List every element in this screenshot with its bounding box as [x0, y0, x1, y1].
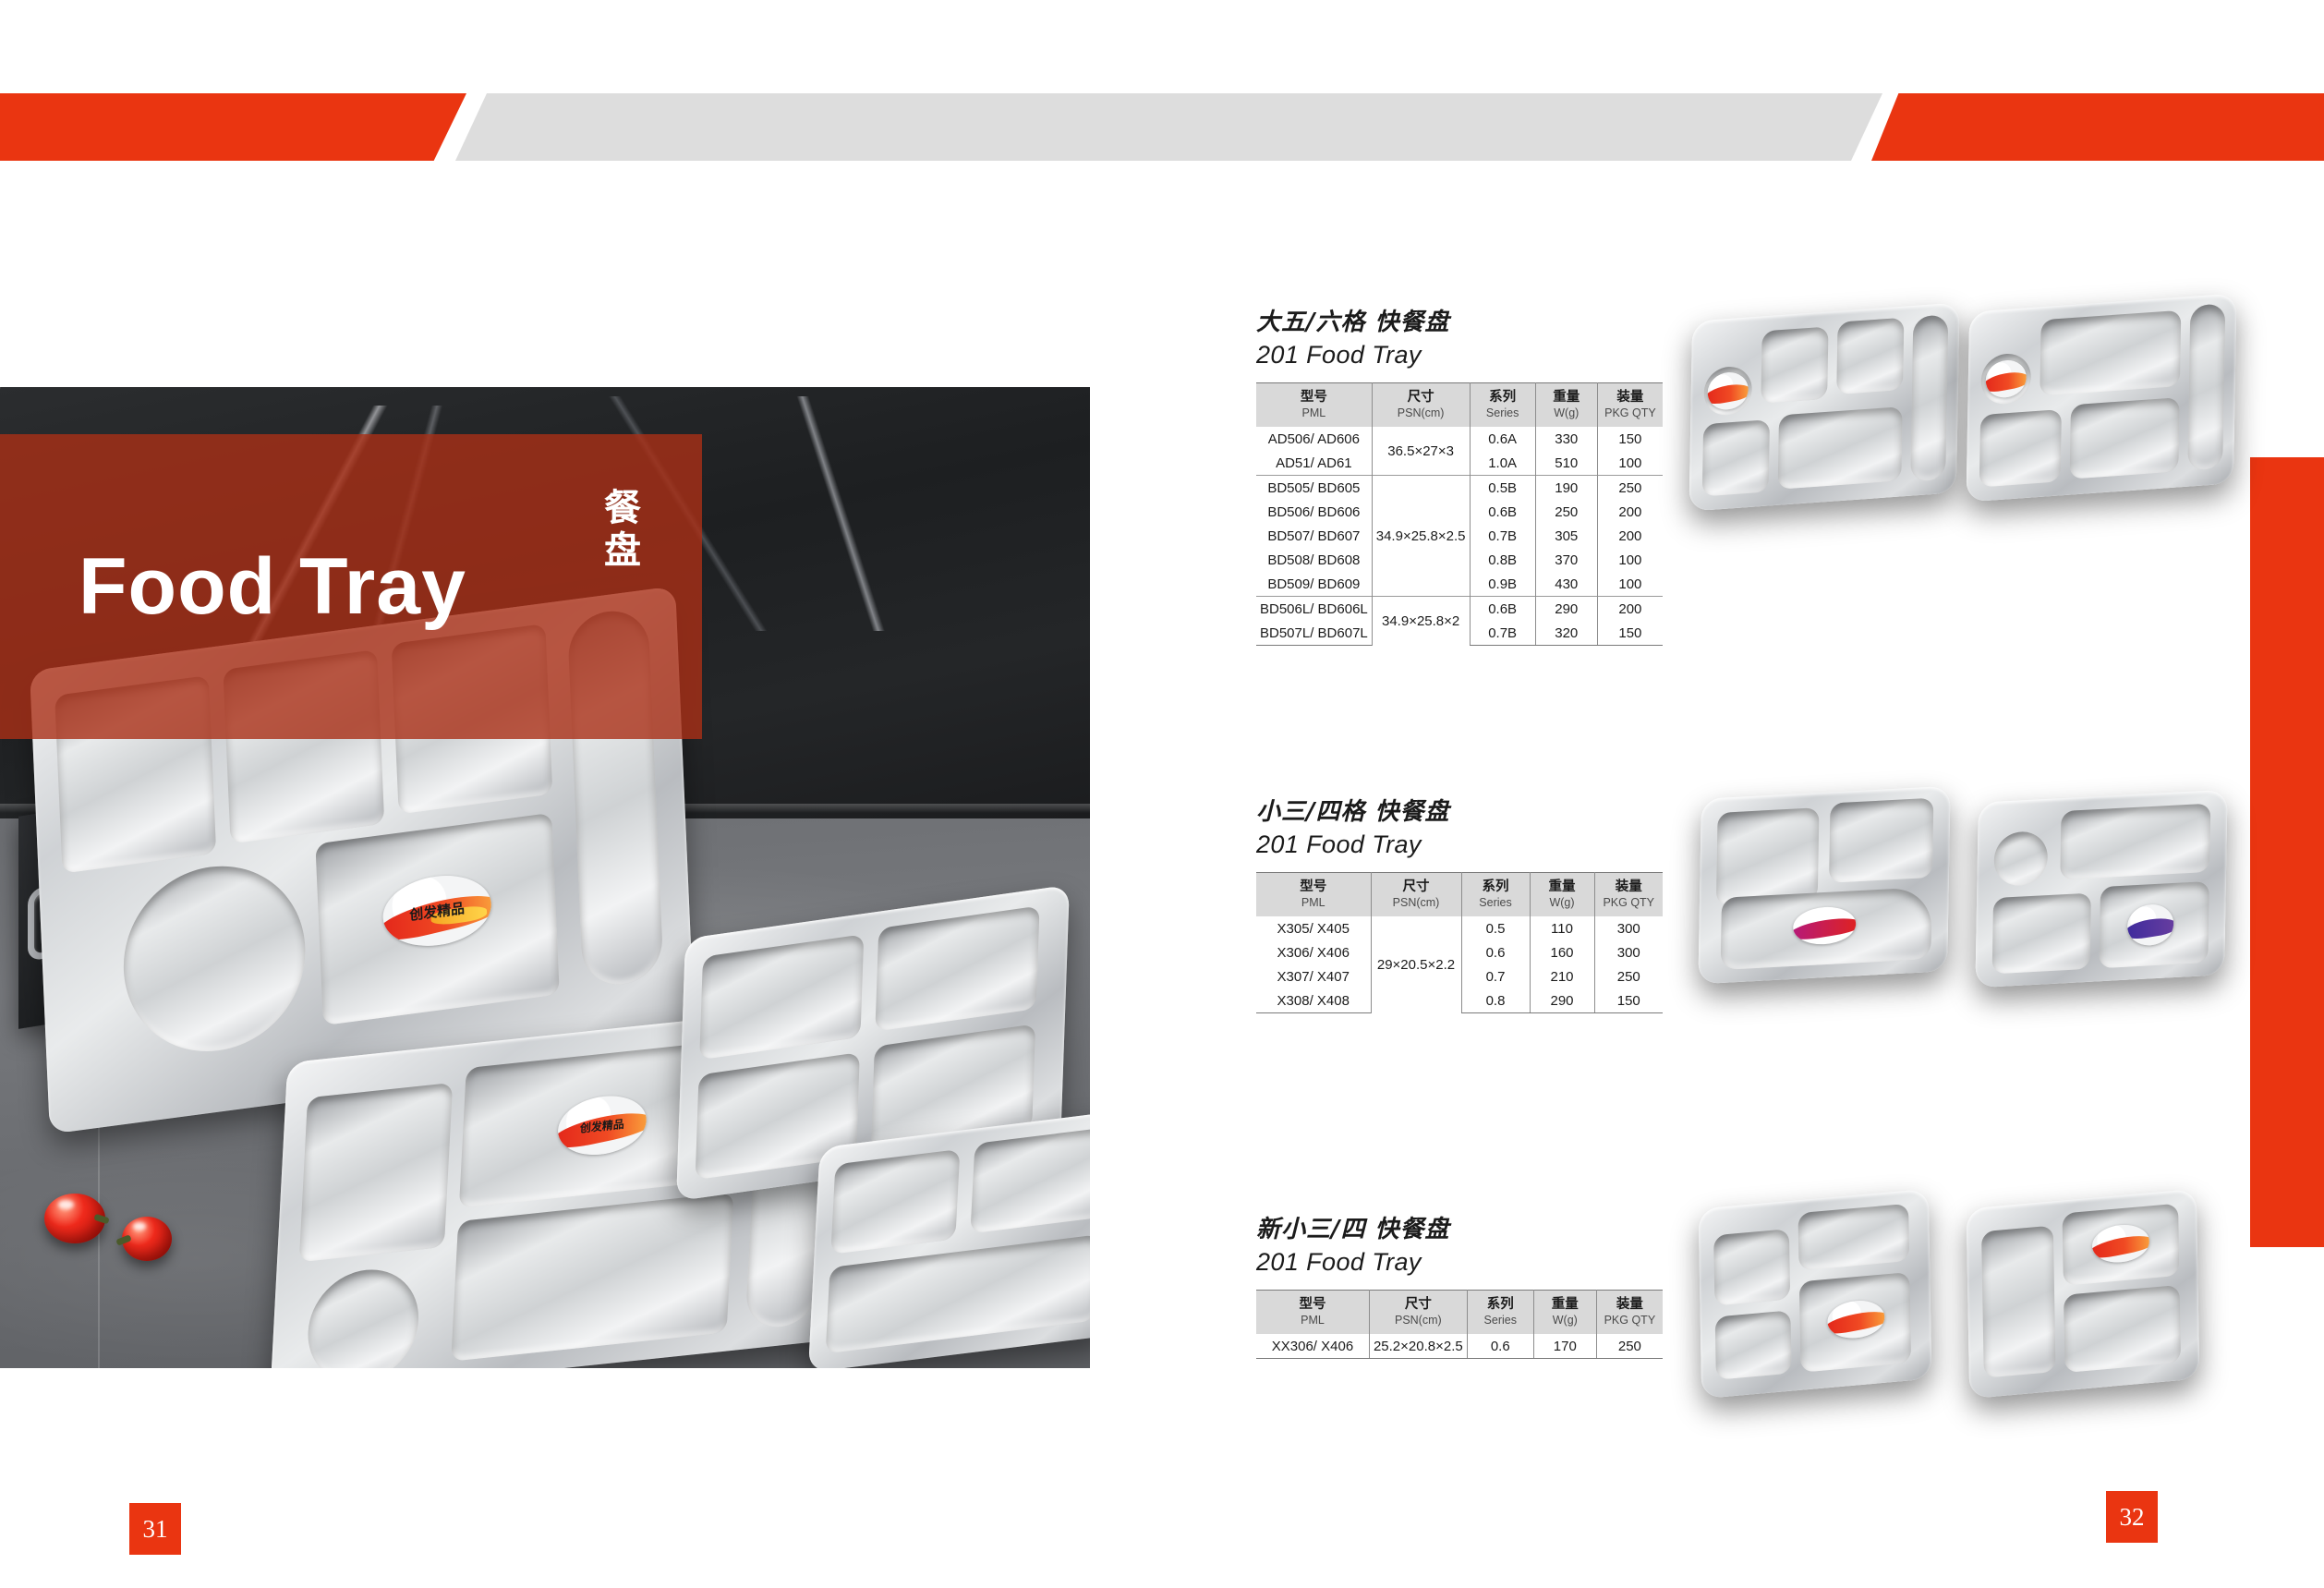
tray-cell-large — [2040, 310, 2181, 396]
cell-weight: 160 — [1530, 940, 1594, 964]
cell-pkg: 100 — [1597, 572, 1663, 597]
product-title-en: 201 Food Tray — [1256, 341, 1663, 370]
brand-sticker — [2127, 903, 2174, 947]
cell-pkg: 300 — [1594, 916, 1663, 940]
tray-cell — [1761, 326, 1828, 403]
spec-table-head: 型号 PML 尺寸 PSN(cm) 系列 Series 重量 W(g) — [1256, 1291, 1663, 1335]
col-header-pkg: 装量 PKG QTY — [1594, 873, 1663, 917]
spec-header-row: 型号 PML 尺寸 PSN(cm) 系列 Series 重量 W(g) — [1256, 383, 1663, 428]
cell-pml: XX306/ X406 — [1256, 1334, 1369, 1359]
product-photo-tray-three-compartment — [1698, 786, 1950, 985]
table-row: X305/ X405 29×20.5×2.2 0.5 110 300 — [1256, 916, 1663, 940]
tomato — [122, 1217, 172, 1261]
cell-pkg: 250 — [1597, 476, 1663, 501]
tray-cell-large — [451, 1193, 733, 1362]
cell-weight: 250 — [1535, 500, 1597, 524]
tray-cell — [875, 905, 1039, 1031]
col-header-pkg: 装量 PKG QTY — [1596, 1291, 1663, 1335]
col-header-weight: 重量 W(g) — [1530, 873, 1594, 917]
tray-cell — [1716, 807, 1820, 905]
tray-cell-round — [305, 1265, 421, 1368]
cell-dimension: 25.2×20.8×2.5 — [1369, 1334, 1467, 1359]
tray-cell-large: 创发精品 — [315, 813, 559, 1025]
cell-pml: BD509/ BD609 — [1256, 572, 1372, 597]
product-title-cn: 新小三/四 快餐盘 — [1256, 1210, 1663, 1244]
col-header-series-cn: 系列 — [1472, 390, 1533, 406]
table-row: AD506/ AD606 36.5×27×3 0.6A 330 150 — [1256, 427, 1663, 451]
table-row: BD505/ BD605 34.9×25.8×2.5 0.5B 190 250 — [1256, 476, 1663, 501]
product-block-new-small-three-four: 新小三/四 快餐盘 201 Food Tray 型号 PML 尺寸 PSN(cm… — [1256, 1210, 2235, 1359]
tray-cell — [1992, 893, 2091, 975]
cell-pml: BD506L/ BD606L — [1256, 597, 1372, 622]
tray-cell-large — [1721, 887, 1932, 970]
col-header-pkg-en: PKG QTY — [1600, 406, 1661, 419]
spec-column: 大五/六格 快餐盘 201 Food Tray 型号 PML 尺寸 PSN(cm… — [1256, 303, 1663, 646]
cell-series: 0.9B — [1470, 572, 1535, 597]
page-number-right: 32 — [2106, 1491, 2158, 1543]
col-header-pml-en: PML — [1258, 406, 1370, 419]
cell-pkg: 200 — [1597, 597, 1663, 622]
product-photo-tray-six-compartment — [1689, 303, 1960, 512]
table-row: BD506L/ BD606L 34.9×25.8×2 0.6B 290 200 — [1256, 597, 1663, 622]
cell-pkg: 150 — [1597, 621, 1663, 646]
cell-weight: 330 — [1535, 427, 1597, 451]
spec-table-head: 型号 PML 尺寸 PSN(cm) 系列 Series 重量 W(g) — [1256, 873, 1663, 917]
cell-pkg: 250 — [1594, 964, 1663, 988]
spec-table-body: AD506/ AD606 36.5×27×3 0.6A 330 150 AD51… — [1256, 427, 1663, 646]
spec-header-row: 型号 PML 尺寸 PSN(cm) 系列 Series 重量 W(g) — [1256, 1291, 1663, 1335]
product-title-en: 201 Food Tray — [1256, 830, 1663, 859]
cell-dimension: 34.9×25.8×2 — [1372, 597, 1470, 646]
cell-pml: X308/ X408 — [1256, 988, 1371, 1013]
col-header-weight: 重量 W(g) — [1533, 1291, 1596, 1335]
tomato — [44, 1194, 105, 1243]
col-header-weight: 重量 W(g) — [1535, 383, 1597, 428]
tray-cell — [299, 1083, 453, 1262]
cell-pml: X307/ X407 — [1256, 964, 1371, 988]
sticker-swoosh-icon — [1793, 915, 1857, 942]
brand-sticker — [1707, 371, 1749, 411]
cell-series: 0.6 — [1467, 1334, 1533, 1359]
table-row: XX306/ X406 25.2×20.8×2.5 0.6 170 250 — [1256, 1334, 1663, 1359]
cell-series: 0.8B — [1470, 548, 1535, 572]
brand-sticker — [2092, 1222, 2149, 1264]
sticker-swoosh-icon — [1707, 382, 1749, 406]
col-header-series-cn: 系列 — [1470, 1297, 1531, 1313]
tray-cell — [1829, 798, 1933, 883]
tray-cell-round — [1703, 365, 1752, 417]
product-photos — [1690, 793, 2235, 1024]
cell-weight: 305 — [1535, 524, 1597, 548]
tray-cell — [2064, 1285, 2181, 1373]
cell-pkg: 150 — [1597, 427, 1663, 451]
sticker-swoosh-icon — [1827, 1308, 1884, 1337]
cell-series: 1.0A — [1470, 451, 1535, 476]
cell-pml: X305/ X405 — [1256, 916, 1371, 940]
cell-dimension: 29×20.5×2.2 — [1371, 916, 1461, 1013]
col-header-pkg-en: PKG QTY — [1597, 896, 1662, 909]
product-photo-tray-four-compartment — [1975, 790, 2227, 988]
cell-pml: BD507L/ BD607L — [1256, 621, 1372, 646]
tray-cell-utensil-slot — [2187, 303, 2225, 470]
brand-sticker — [1827, 1298, 1884, 1339]
tray-cell — [1979, 409, 2062, 487]
col-header-pkg: 装量 PKG QTY — [1597, 383, 1663, 428]
col-header-series: 系列 Series — [1461, 873, 1530, 917]
spec-table: 型号 PML 尺寸 PSN(cm) 系列 Series 重量 W(g) — [1256, 1290, 1663, 1359]
cell-pml: AD506/ AD606 — [1256, 427, 1372, 451]
product-photos — [1690, 1210, 2235, 1441]
product-photo-tray-four-compartment-square — [1699, 1189, 1932, 1399]
col-header-series-en: Series — [1472, 406, 1533, 419]
product-photo-tray-three-compartment-square — [1967, 1189, 2200, 1399]
brand-sticker: 创发精品 — [557, 1092, 648, 1159]
sticker-swoosh-icon — [2127, 915, 2174, 941]
tray-cell-large — [826, 1234, 1090, 1353]
spec-column: 新小三/四 快餐盘 201 Food Tray 型号 PML 尺寸 PSN(cm… — [1256, 1210, 1663, 1359]
col-header-weight-cn: 重量 — [1536, 1297, 1594, 1313]
right-accent-bar — [2250, 457, 2324, 1247]
col-header-series-cn: 系列 — [1464, 879, 1528, 895]
cell-series: 0.7B — [1470, 621, 1535, 646]
cell-pml: BD506/ BD606 — [1256, 500, 1372, 524]
tray-cell-tall — [1981, 1226, 2055, 1378]
tray-cell-round — [120, 855, 309, 1062]
tray-cell-large — [1778, 406, 1903, 490]
product-block-small-three-four-grid: 小三/四格 快餐盘 201 Food Tray 型号 PML 尺寸 PSN(cm… — [1256, 793, 2235, 1013]
spec-table-body: XX306/ X406 25.2×20.8×2.5 0.6 170 250 — [1256, 1334, 1663, 1359]
product-block-large-five-six-grid: 大五/六格 快餐盘 201 Food Tray 型号 PML 尺寸 PSN(cm… — [1256, 303, 2235, 646]
cell-pkg: 150 — [1594, 988, 1663, 1013]
cell-weight: 430 — [1535, 572, 1597, 597]
col-header-series: 系列 Series — [1467, 1291, 1533, 1335]
cell-series: 0.7 — [1461, 964, 1530, 988]
tray-cell — [830, 1149, 960, 1255]
tray-cell — [1715, 1310, 1792, 1379]
tray-cell-round — [1993, 830, 2048, 887]
header-red-right-shape — [1871, 93, 2324, 161]
cell-pml: AD51/ AD61 — [1256, 451, 1372, 476]
cell-weight: 210 — [1530, 964, 1594, 988]
tray-cell — [1702, 419, 1770, 496]
cell-series: 0.5 — [1461, 916, 1530, 940]
cell-pkg: 300 — [1594, 940, 1663, 964]
cell-series: 0.6A — [1470, 427, 1535, 451]
cell-pkg: 250 — [1596, 1334, 1663, 1359]
cell-weight: 290 — [1530, 988, 1594, 1013]
cell-weight: 170 — [1533, 1334, 1596, 1359]
cell-dimension: 34.9×25.8×2.5 — [1372, 476, 1470, 597]
col-header-series-en: Series — [1464, 896, 1528, 909]
hero-title-overlay: Food Tray 餐盘 — [0, 434, 702, 739]
cell-weight: 290 — [1535, 597, 1597, 622]
col-header-size-en: PSN(cm) — [1374, 896, 1459, 909]
cell-series: 0.6 — [1461, 940, 1530, 964]
tray-cell — [2070, 397, 2180, 479]
col-header-pkg-cn: 装量 — [1597, 879, 1662, 895]
spec-header-row: 型号 PML 尺寸 PSN(cm) 系列 Series 重量 W(g) — [1256, 873, 1663, 917]
page-title-chinese: 餐盘 — [598, 488, 639, 573]
cell-series: 0.6B — [1470, 500, 1535, 524]
cell-series: 0.8 — [1461, 988, 1530, 1013]
tray-cell-large — [2060, 804, 2210, 880]
cell-pkg: 100 — [1597, 548, 1663, 572]
col-header-weight-en: W(g) — [1532, 896, 1592, 909]
col-header-pml: 型号 PML — [1256, 1291, 1369, 1335]
col-header-size: 尺寸 PSN(cm) — [1372, 383, 1470, 428]
tray-cell — [2063, 1204, 2180, 1286]
brand-sticker — [1985, 359, 2027, 399]
cell-weight: 190 — [1535, 476, 1597, 501]
col-header-weight-cn: 重量 — [1532, 879, 1592, 895]
page-title: Food Tray — [79, 547, 466, 626]
cell-pml: BD505/ BD605 — [1256, 476, 1372, 501]
cell-pml: X306/ X406 — [1256, 940, 1371, 964]
cell-pml: BD508/ BD608 — [1256, 548, 1372, 572]
col-header-size-cn: 尺寸 — [1372, 1297, 1465, 1313]
cell-series: 0.6B — [1470, 597, 1535, 622]
header-banner — [0, 93, 2324, 161]
cell-pkg: 200 — [1597, 524, 1663, 548]
header-red-left-shape — [0, 93, 466, 161]
spec-table-head: 型号 PML 尺寸 PSN(cm) 系列 Series 重量 W(g) — [1256, 383, 1663, 428]
tray-cell — [1798, 1204, 1910, 1271]
product-title-en: 201 Food Tray — [1256, 1248, 1663, 1277]
spec-column: 小三/四格 快餐盘 201 Food Tray 型号 PML 尺寸 PSN(cm… — [1256, 793, 1663, 1013]
cell-series: 0.5B — [1470, 476, 1535, 501]
cell-weight: 510 — [1535, 451, 1597, 476]
col-header-series-en: Series — [1470, 1314, 1531, 1327]
tray-cell — [970, 1128, 1090, 1234]
col-header-size-en: PSN(cm) — [1374, 406, 1468, 419]
col-header-series: 系列 Series — [1470, 383, 1535, 428]
cell-pkg: 100 — [1597, 451, 1663, 476]
hero-tray-right-lower — [808, 1110, 1090, 1368]
cell-weight: 110 — [1530, 916, 1594, 940]
tray-cell-utensil-slot — [1910, 314, 1948, 481]
header-gray-middle-shape — [455, 93, 1882, 161]
col-header-weight-cn: 重量 — [1538, 390, 1595, 406]
col-header-pml-cn: 型号 — [1258, 879, 1369, 895]
cell-dimension: 36.5×27×3 — [1372, 427, 1470, 476]
product-photos — [1690, 303, 2235, 534]
spec-table-body: X305/ X405 29×20.5×2.2 0.5 110 300 X306/… — [1256, 916, 1663, 1013]
col-header-size: 尺寸 PSN(cm) — [1371, 873, 1461, 917]
cell-weight: 370 — [1535, 548, 1597, 572]
cell-pml: BD507/ BD607 — [1256, 524, 1372, 548]
brand-sticker — [1793, 905, 1857, 946]
col-header-pkg-en: PKG QTY — [1599, 1314, 1661, 1327]
col-header-size: 尺寸 PSN(cm) — [1369, 1291, 1467, 1335]
page-number-left: 31 — [129, 1503, 181, 1555]
col-header-weight-en: W(g) — [1536, 1314, 1594, 1327]
product-title-cn: 小三/四格 快餐盘 — [1256, 793, 1663, 827]
tray-cell — [1799, 1272, 1911, 1373]
cell-weight: 320 — [1535, 621, 1597, 646]
tray-cell — [2099, 881, 2209, 968]
col-header-pkg-cn: 装量 — [1600, 390, 1661, 406]
tray-cell — [699, 934, 864, 1060]
brand-sticker: 创发精品 — [381, 869, 492, 952]
col-header-weight-en: W(g) — [1538, 406, 1595, 419]
sticker-swoosh-icon — [1985, 370, 2027, 394]
col-header-size-cn: 尺寸 — [1374, 879, 1459, 895]
sticker-swoosh-icon — [2092, 1232, 2149, 1261]
col-header-pml-cn: 型号 — [1258, 1297, 1367, 1313]
tray-cell — [1713, 1229, 1790, 1305]
col-header-pml-cn: 型号 — [1258, 390, 1370, 406]
col-header-pml: 型号 PML — [1256, 383, 1372, 428]
tray-cell-round — [1980, 352, 2031, 406]
spec-table: 型号 PML 尺寸 PSN(cm) 系列 Series 重量 W(g) — [1256, 872, 1663, 1013]
cell-series: 0.7B — [1470, 524, 1535, 548]
tray-cell — [1836, 318, 1904, 394]
col-header-size-en: PSN(cm) — [1372, 1314, 1465, 1327]
col-header-pml-en: PML — [1258, 1314, 1367, 1327]
col-header-size-cn: 尺寸 — [1374, 390, 1468, 406]
spec-table: 型号 PML 尺寸 PSN(cm) 系列 Series 重量 W(g) — [1256, 382, 1663, 646]
cell-pkg: 200 — [1597, 500, 1663, 524]
col-header-pml-en: PML — [1258, 896, 1369, 909]
product-photo-tray-five-compartment — [1967, 294, 2237, 503]
col-header-pkg-cn: 装量 — [1599, 1297, 1661, 1313]
product-title-cn: 大五/六格 快餐盘 — [1256, 303, 1663, 337]
col-header-pml: 型号 PML — [1256, 873, 1371, 917]
